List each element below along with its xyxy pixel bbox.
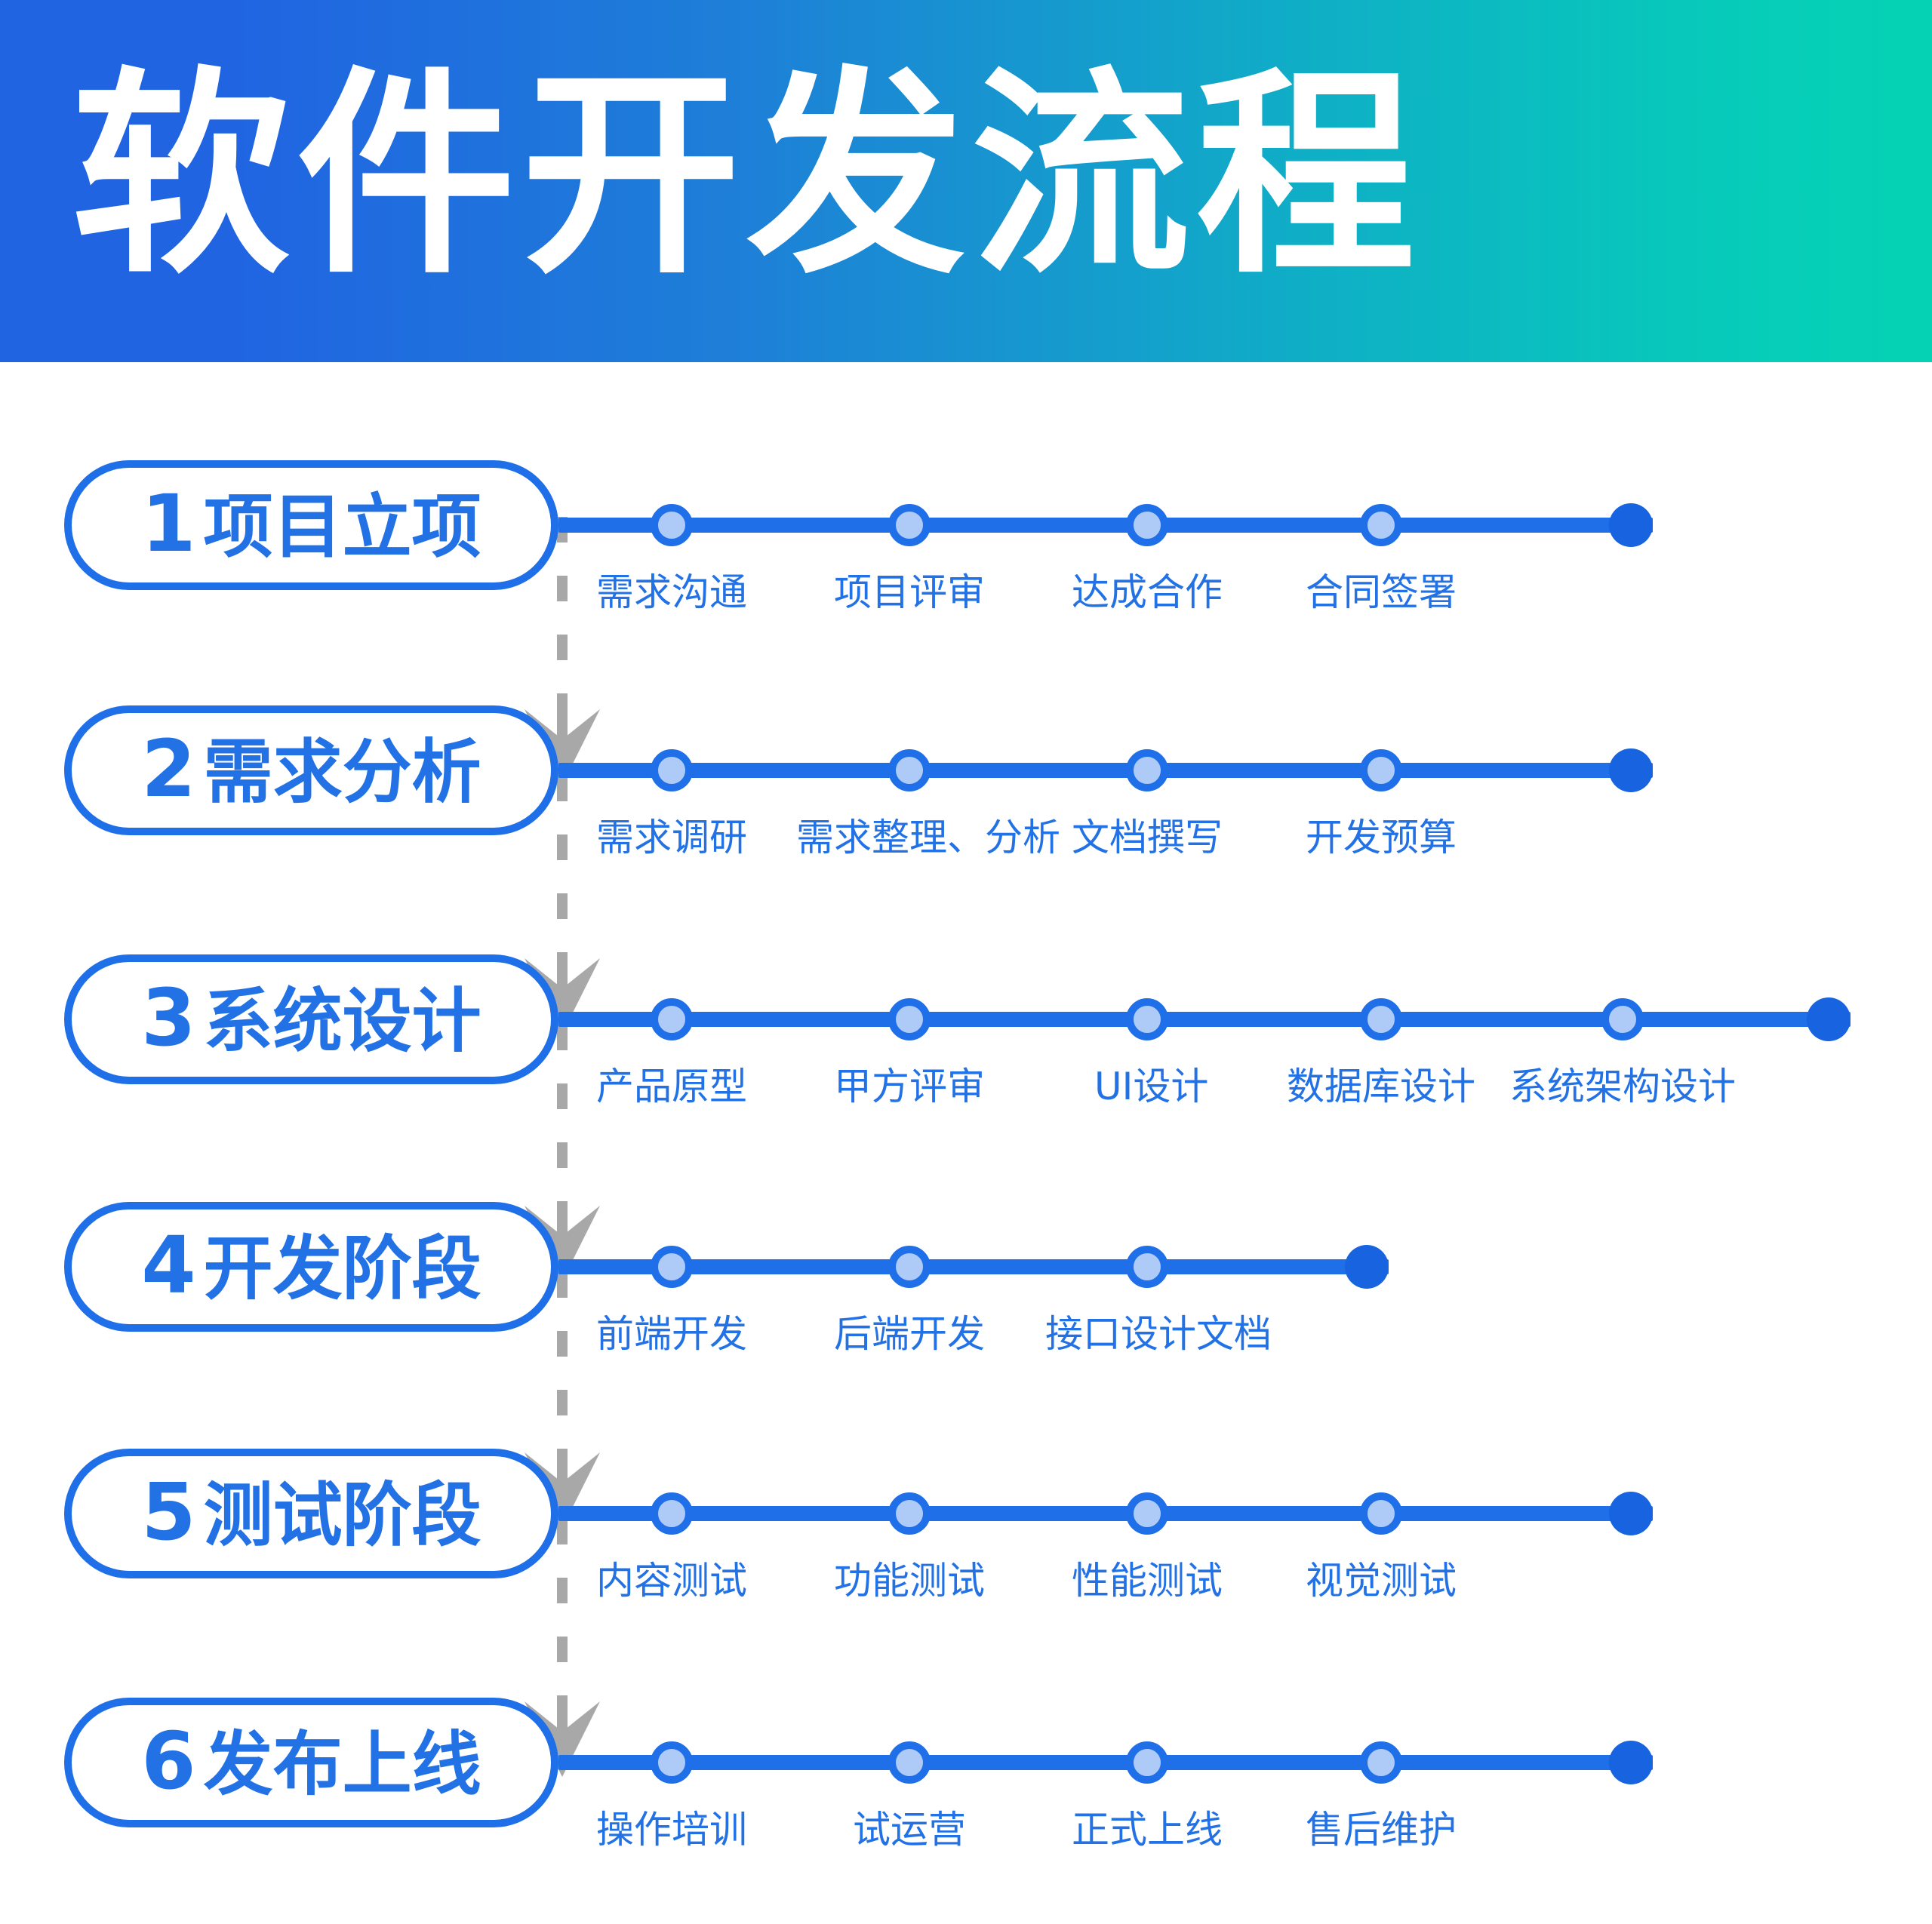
milestone-label-6-3: 正式上线 (1072, 1811, 1223, 1849)
step-number-4: 4 (141, 1219, 195, 1311)
step-pill-6[interactable]: 6发布上线 (64, 1698, 558, 1827)
milestone-dot-3-4[interactable] (1360, 998, 1402, 1040)
step-track-3 (558, 1012, 1850, 1027)
step-number-6: 6 (141, 1715, 195, 1807)
milestone-label-6-2: 试运营 (853, 1811, 966, 1849)
milestone-label-1-1: 需求沟通 (596, 573, 747, 611)
milestone-label-4-3: 接口设计文档 (1045, 1315, 1272, 1353)
step-track-1 (558, 518, 1653, 533)
step-pill-label-2: 2需求分析 (141, 730, 481, 808)
milestone-dot-2-4[interactable] (1360, 749, 1402, 791)
milestone-label-5-2: 功能测试 (834, 1562, 985, 1600)
milestone-dot-2-2[interactable] (888, 749, 931, 791)
milestone-label-5-4: 视觉测试 (1306, 1562, 1457, 1600)
milestone-label-1-2: 项目评审 (834, 573, 985, 611)
step-name-2: 需求分析 (204, 732, 481, 813)
step-pill-5[interactable]: 5测试阶段 (64, 1449, 558, 1578)
step-pill-label-3: 3系统设计 (141, 979, 481, 1057)
step-row-6: 6发布上线 操作培训 试运营 正式上线 售后维护 (0, 1698, 1932, 1924)
milestone-dot-3-end (1807, 997, 1850, 1041)
milestone-label-2-1: 需求调研 (596, 819, 747, 856)
milestone-label-2-3: 文档撰写 (1072, 819, 1223, 856)
milestone-label-3-1: 产品原型 (596, 1068, 747, 1105)
step-name-4: 开发阶段 (204, 1228, 481, 1309)
milestone-dot-1-1[interactable] (651, 504, 693, 546)
milestone-dot-5-end (1609, 1492, 1653, 1535)
milestone-dot-1-2[interactable] (888, 504, 931, 546)
milestone-label-3-3: UI设计 (1094, 1068, 1208, 1105)
milestone-label-3-5: 系统架构设计 (1509, 1068, 1736, 1105)
step-number-2: 2 (141, 723, 195, 815)
milestone-dot-1-4[interactable] (1360, 504, 1402, 546)
milestone-label-5-3: 性能测试 (1072, 1562, 1223, 1600)
step-row-4: 4开发阶段 前端开发 后端开发 接口设计文档 (0, 1202, 1932, 1428)
milestone-dot-3-5[interactable] (1601, 998, 1644, 1040)
milestone-dot-5-2[interactable] (888, 1492, 931, 1535)
step-name-6: 发布上线 (204, 1724, 481, 1805)
milestone-label-1-4: 合同签署 (1306, 573, 1457, 611)
milestone-dot-3-3[interactable] (1126, 998, 1168, 1040)
milestone-label-2-4: 开发预算 (1306, 819, 1457, 856)
milestone-dot-2-3[interactable] (1126, 749, 1168, 791)
milestone-dot-1-end (1609, 503, 1653, 547)
step-pill-label-4: 4开发阶段 (141, 1226, 481, 1305)
milestone-dot-6-end (1609, 1741, 1653, 1784)
milestone-dot-1-3[interactable] (1126, 504, 1168, 546)
step-row-5: 5测试阶段 内容测试 功能测试 性能测试 视觉测试 (0, 1449, 1932, 1675)
milestone-dot-6-3[interactable] (1126, 1741, 1168, 1784)
milestone-dot-5-3[interactable] (1126, 1492, 1168, 1535)
page-header: 软件开发流程 (0, 0, 1932, 362)
step-pill-label-5: 5测试阶段 (141, 1473, 481, 1551)
milestone-dot-6-4[interactable] (1360, 1741, 1402, 1784)
page-title: 软件开发流程 (72, 67, 1421, 286)
step-pill-4[interactable]: 4开发阶段 (64, 1202, 558, 1332)
milestone-label-6-1: 操作培训 (596, 1811, 747, 1849)
milestone-label-3-2: 甲方评审 (834, 1068, 985, 1105)
milestone-dot-2-end (1609, 748, 1653, 792)
milestone-label-4-2: 后端开发 (834, 1315, 985, 1353)
step-pill-1[interactable]: 1项目立项 (64, 460, 558, 590)
step-number-3: 3 (141, 972, 195, 1064)
milestone-label-2-2: 需求整理、分析 (796, 819, 1060, 856)
milestone-dot-5-1[interactable] (651, 1492, 693, 1535)
step-track-6 (558, 1755, 1653, 1770)
step-number-5: 5 (141, 1466, 195, 1558)
milestone-dot-3-2[interactable] (888, 998, 931, 1040)
flow-diagram: 1项目立项 需求沟通 项目评审 达成合作 合同签署 2需求分析 需求调研 需求整… (0, 362, 1932, 1909)
milestone-label-3-4: 数据库设计 (1287, 1068, 1475, 1105)
step-name-5: 测试阶段 (204, 1475, 481, 1556)
step-track-2 (558, 763, 1653, 778)
step-row-2: 2需求分析 需求调研 需求整理、分析 文档撰写 开发预算 (0, 705, 1932, 932)
milestone-dot-4-end (1345, 1245, 1389, 1289)
step-name-1: 项目立项 (204, 487, 481, 567)
step-pill-3[interactable]: 3系统设计 (64, 954, 558, 1084)
milestone-dot-6-2[interactable] (888, 1741, 931, 1784)
step-row-1: 1项目立项 需求沟通 项目评审 达成合作 合同签署 (0, 460, 1932, 687)
milestone-dot-2-1[interactable] (651, 749, 693, 791)
milestone-label-1-3: 达成合作 (1072, 573, 1223, 611)
milestone-dot-6-1[interactable] (651, 1741, 693, 1784)
milestone-dot-4-1[interactable] (651, 1246, 693, 1288)
step-pill-label-1: 1项目立项 (141, 484, 481, 563)
milestone-dot-3-1[interactable] (651, 998, 693, 1040)
milestone-dot-5-4[interactable] (1360, 1492, 1402, 1535)
step-track-5 (558, 1506, 1653, 1521)
milestone-label-4-1: 前端开发 (596, 1315, 747, 1353)
milestone-label-6-4: 售后维护 (1306, 1811, 1457, 1849)
step-pill-2[interactable]: 2需求分析 (64, 705, 558, 835)
step-pill-label-6: 6发布上线 (141, 1722, 481, 1800)
step-number-1: 1 (141, 478, 195, 570)
milestone-dot-4-3[interactable] (1126, 1246, 1168, 1288)
step-name-3: 系统设计 (204, 981, 481, 1062)
milestone-label-5-1: 内容测试 (596, 1562, 747, 1600)
milestone-dot-4-2[interactable] (888, 1246, 931, 1288)
step-row-3: 3系统设计 产品原型 甲方评审 UI设计 数据库设计 系统架构设计 (0, 954, 1932, 1181)
